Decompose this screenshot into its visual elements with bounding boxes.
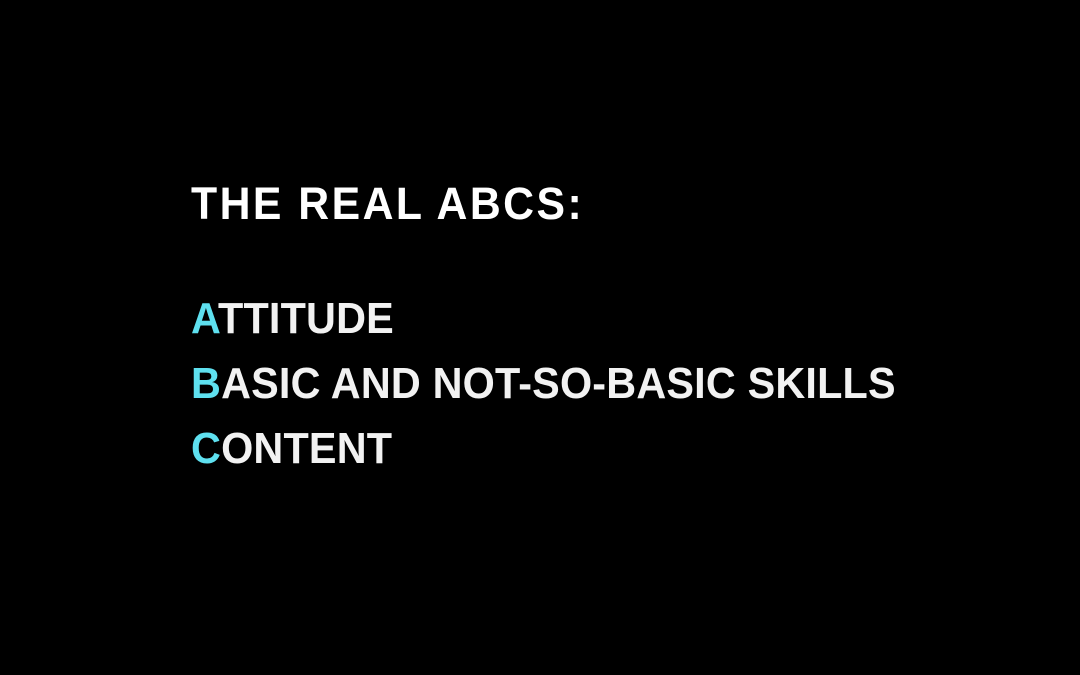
list-item: ATTITUDE — [191, 286, 896, 351]
list-item-label: ASIC AND NOT-SO-BASIC SKILLS — [221, 359, 896, 408]
list-item-initial: C — [191, 424, 221, 473]
list-item: CONTENT — [191, 416, 896, 481]
list-item: BASIC AND NOT-SO-BASIC SKILLS — [191, 351, 896, 416]
slide-canvas: THE REAL ABCS: ATTITUDE BASIC AND NOT-SO… — [0, 0, 1080, 675]
list-item-label: TTITUDE — [218, 294, 394, 343]
list-item-label: ONTENT — [221, 424, 392, 473]
page-title: THE REAL ABCS: — [191, 178, 584, 230]
list-item-initial: A — [191, 294, 218, 343]
abc-list: ATTITUDE BASIC AND NOT-SO-BASIC SKILLS C… — [191, 286, 941, 481]
list-item-initial: B — [191, 359, 221, 408]
